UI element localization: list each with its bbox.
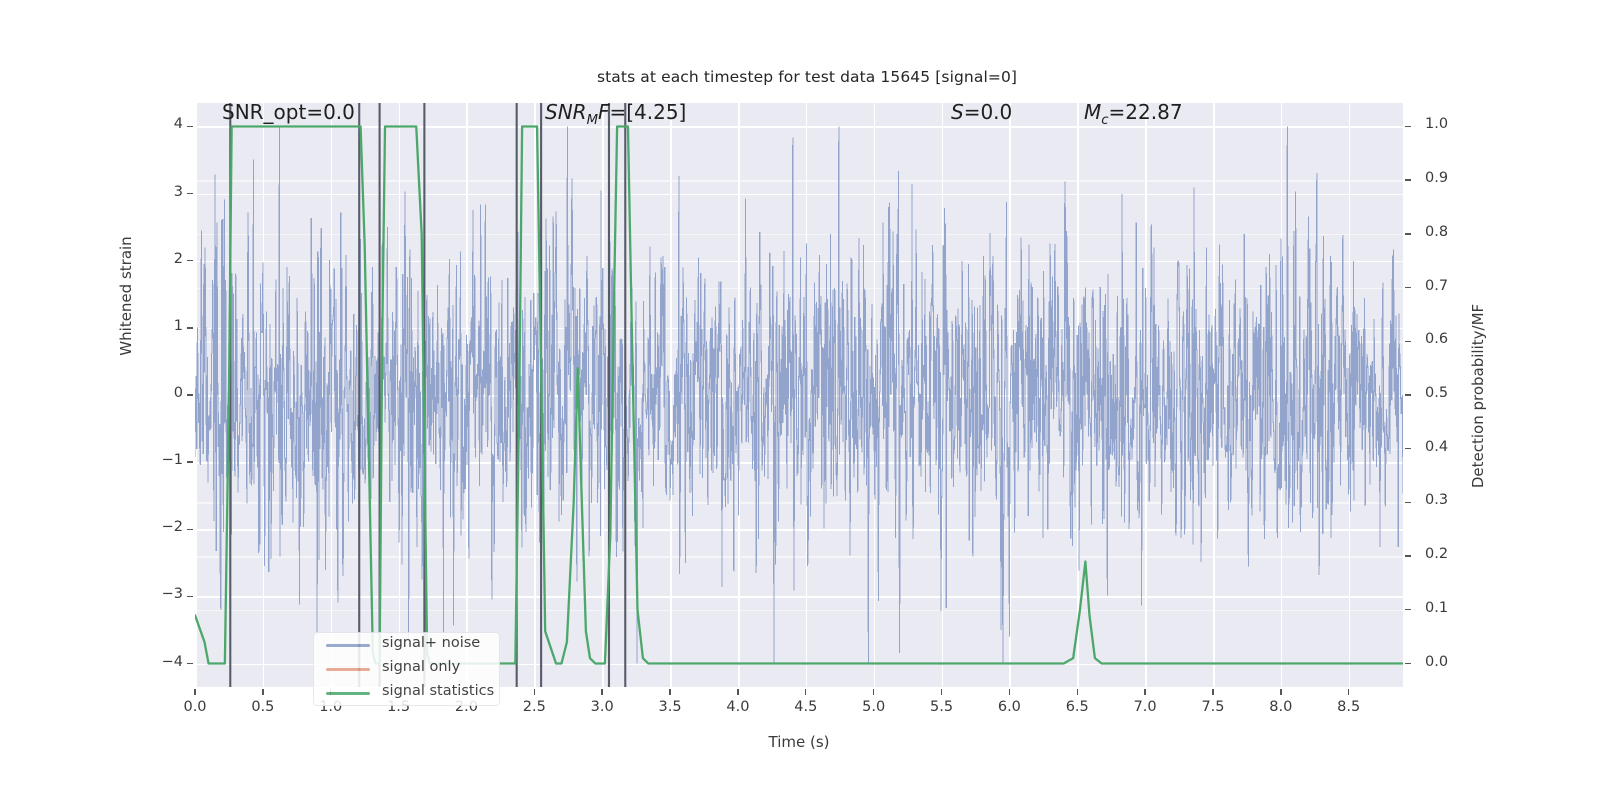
y-tick-label-right: 0.1: [1425, 600, 1485, 616]
tick-mark: [1405, 126, 1411, 127]
x-tick-label: 5.5: [912, 699, 972, 715]
annotation-snr-opt: SNR_opt=0.0: [222, 100, 355, 124]
legend-label-signal-only: signal only: [382, 659, 460, 675]
tick-mark: [941, 689, 942, 695]
legend-label-signal-statistics: signal statistics: [382, 683, 494, 699]
y-tick-label-right: 0.0: [1425, 654, 1485, 670]
tick-mark: [601, 689, 602, 695]
plot-area: [195, 103, 1403, 687]
tick-mark: [1144, 689, 1145, 695]
tick-mark: [1405, 179, 1411, 180]
tick-mark: [1405, 341, 1411, 342]
tick-mark: [1009, 689, 1010, 695]
tick-mark: [187, 394, 193, 395]
y-tick-label-left: 4: [137, 116, 183, 132]
annotation-snr-mf: SNRMF=[4.25]: [545, 100, 686, 128]
tick-mark: [1405, 555, 1411, 556]
y-tick-label-left: −1: [137, 452, 183, 468]
y-tick-label-right: 0.3: [1425, 492, 1485, 508]
y-tick-label-right: 0.9: [1425, 170, 1485, 186]
tick-mark: [1405, 394, 1411, 395]
x-tick-label: 8.5: [1319, 699, 1379, 715]
y-tick-label-right: 1.0: [1425, 116, 1485, 132]
tick-mark: [1405, 609, 1411, 610]
tick-mark: [187, 529, 193, 530]
x-tick-label: 3.5: [640, 699, 700, 715]
y-tick-label-left: 3: [137, 184, 183, 200]
tick-mark: [669, 689, 670, 695]
tick-mark: [187, 260, 193, 261]
y-axis-label-left: Whitened strain: [117, 236, 135, 355]
x-tick-label: 8.0: [1251, 699, 1311, 715]
y-tick-label-left: 2: [137, 251, 183, 267]
tick-mark: [534, 689, 535, 695]
legend-item-signal-statistics: signal statistics: [314, 681, 499, 705]
tick-mark: [1405, 233, 1411, 234]
annotation-chirp-mass: Mc=22.87: [1084, 100, 1183, 128]
tick-mark: [1348, 689, 1349, 695]
tick-mark: [1405, 663, 1411, 664]
x-tick-label: 0.0: [165, 699, 225, 715]
y-tick-label-right: 0.6: [1425, 331, 1485, 347]
legend-swatch-signal-noise: [326, 644, 370, 647]
y-tick-label-right: 0.5: [1425, 385, 1485, 401]
figure-canvas: stats at each timestep for test data 156…: [0, 0, 1600, 800]
x-tick-label: 5.0: [844, 699, 904, 715]
y-tick-label-left: −4: [137, 654, 183, 670]
tick-mark: [262, 689, 263, 695]
legend-swatch-signal-statistics: [326, 692, 370, 695]
tick-mark: [1405, 448, 1411, 449]
tick-mark: [187, 327, 193, 328]
x-tick-label: 4.5: [776, 699, 836, 715]
tick-mark: [1212, 689, 1213, 695]
legend-item-signal-noise: signal+ noise: [314, 633, 499, 657]
x-tick-label: 2.5: [504, 699, 564, 715]
y-tick-label-left: 1: [137, 318, 183, 334]
x-tick-label: 3.0: [572, 699, 632, 715]
x-tick-label: 6.0: [979, 699, 1039, 715]
tick-mark: [1280, 689, 1281, 695]
tick-mark: [1405, 502, 1411, 503]
x-tick-label: 6.5: [1047, 699, 1107, 715]
y-tick-label-right: 0.8: [1425, 224, 1485, 240]
tick-mark: [805, 689, 806, 695]
tick-mark: [187, 461, 193, 462]
legend-swatch-signal-only: [326, 668, 370, 671]
x-tick-label: 7.5: [1183, 699, 1243, 715]
y-tick-label-right: 0.2: [1425, 546, 1485, 562]
tick-mark: [187, 193, 193, 194]
tick-mark: [873, 689, 874, 695]
tick-mark: [1405, 287, 1411, 288]
page-title: stats at each timestep for test data 156…: [0, 68, 1600, 86]
title-text: stats at each timestep for test data 156…: [597, 68, 1017, 86]
y-tick-label-right: 0.7: [1425, 278, 1485, 294]
legend: signal+ noise signal only signal statist…: [313, 632, 500, 706]
tick-mark: [1077, 689, 1078, 695]
y-tick-label-left: 0: [137, 385, 183, 401]
annotation-s-value: S=0.0: [951, 100, 1012, 124]
x-tick-label: 4.0: [708, 699, 768, 715]
x-tick-label: 7.0: [1115, 699, 1175, 715]
signal-statistics-layer: [195, 103, 1403, 687]
tick-mark: [194, 689, 195, 695]
y-tick-label-left: −2: [137, 519, 183, 535]
x-tick-label: 0.5: [233, 699, 293, 715]
y-tick-label-right: 0.4: [1425, 439, 1485, 455]
tick-mark: [187, 126, 193, 127]
legend-item-signal-only: signal only: [314, 657, 499, 681]
y-tick-label-left: −3: [137, 586, 183, 602]
legend-label-signal-noise: signal+ noise: [382, 635, 480, 651]
tick-mark: [187, 663, 193, 664]
x-axis-label: Time (s): [769, 733, 830, 751]
tick-mark: [737, 689, 738, 695]
tick-mark: [187, 596, 193, 597]
